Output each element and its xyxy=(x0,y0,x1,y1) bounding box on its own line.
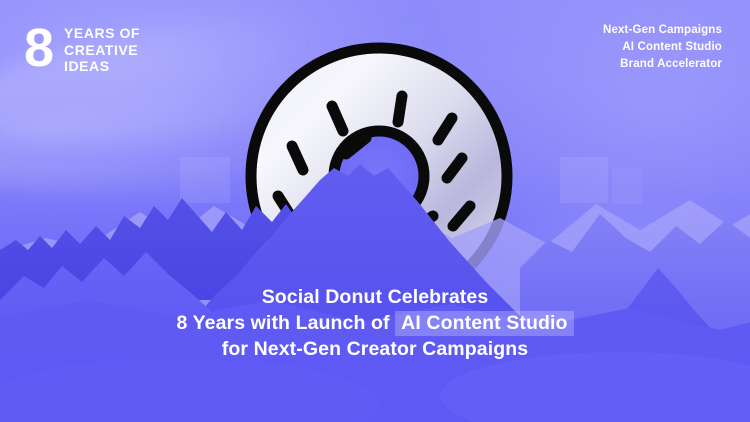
badge-line-2: CREATIVE xyxy=(64,42,140,59)
headline-line-2-text: 8 Years with Launch of xyxy=(176,312,389,334)
headline-highlight: AI Content Studio xyxy=(395,311,573,336)
product-list-item-2: AI Content Studio xyxy=(622,40,722,55)
badge-line-3: IDEAS xyxy=(64,58,140,75)
product-list-item-1: Next-Gen Campaigns xyxy=(603,23,722,38)
product-list: Next-Gen Campaigns AI Content Studio Bra… xyxy=(603,23,722,72)
badge-number: 8 xyxy=(24,21,53,75)
product-list-item-3: Brand Accelerator xyxy=(620,57,722,72)
headline-block: Social Donut Celebrates 8 Years with Lau… xyxy=(0,284,750,362)
headline-line-1: Social Donut Celebrates xyxy=(0,284,750,310)
headline-line-3: for Next-Gen Creator Campaigns xyxy=(0,336,750,362)
headline-line-2: 8 Years with Launch of AI Content Studio xyxy=(0,310,750,336)
hero-banner: 8 YEARS OF CREATIVE IDEAS Next-Gen Campa… xyxy=(0,0,750,422)
badge-line-1: YEARS OF xyxy=(64,25,140,42)
badge-text-block: YEARS OF CREATIVE IDEAS xyxy=(64,20,140,75)
anniversary-badge: 8 YEARS OF CREATIVE IDEAS xyxy=(24,20,140,75)
